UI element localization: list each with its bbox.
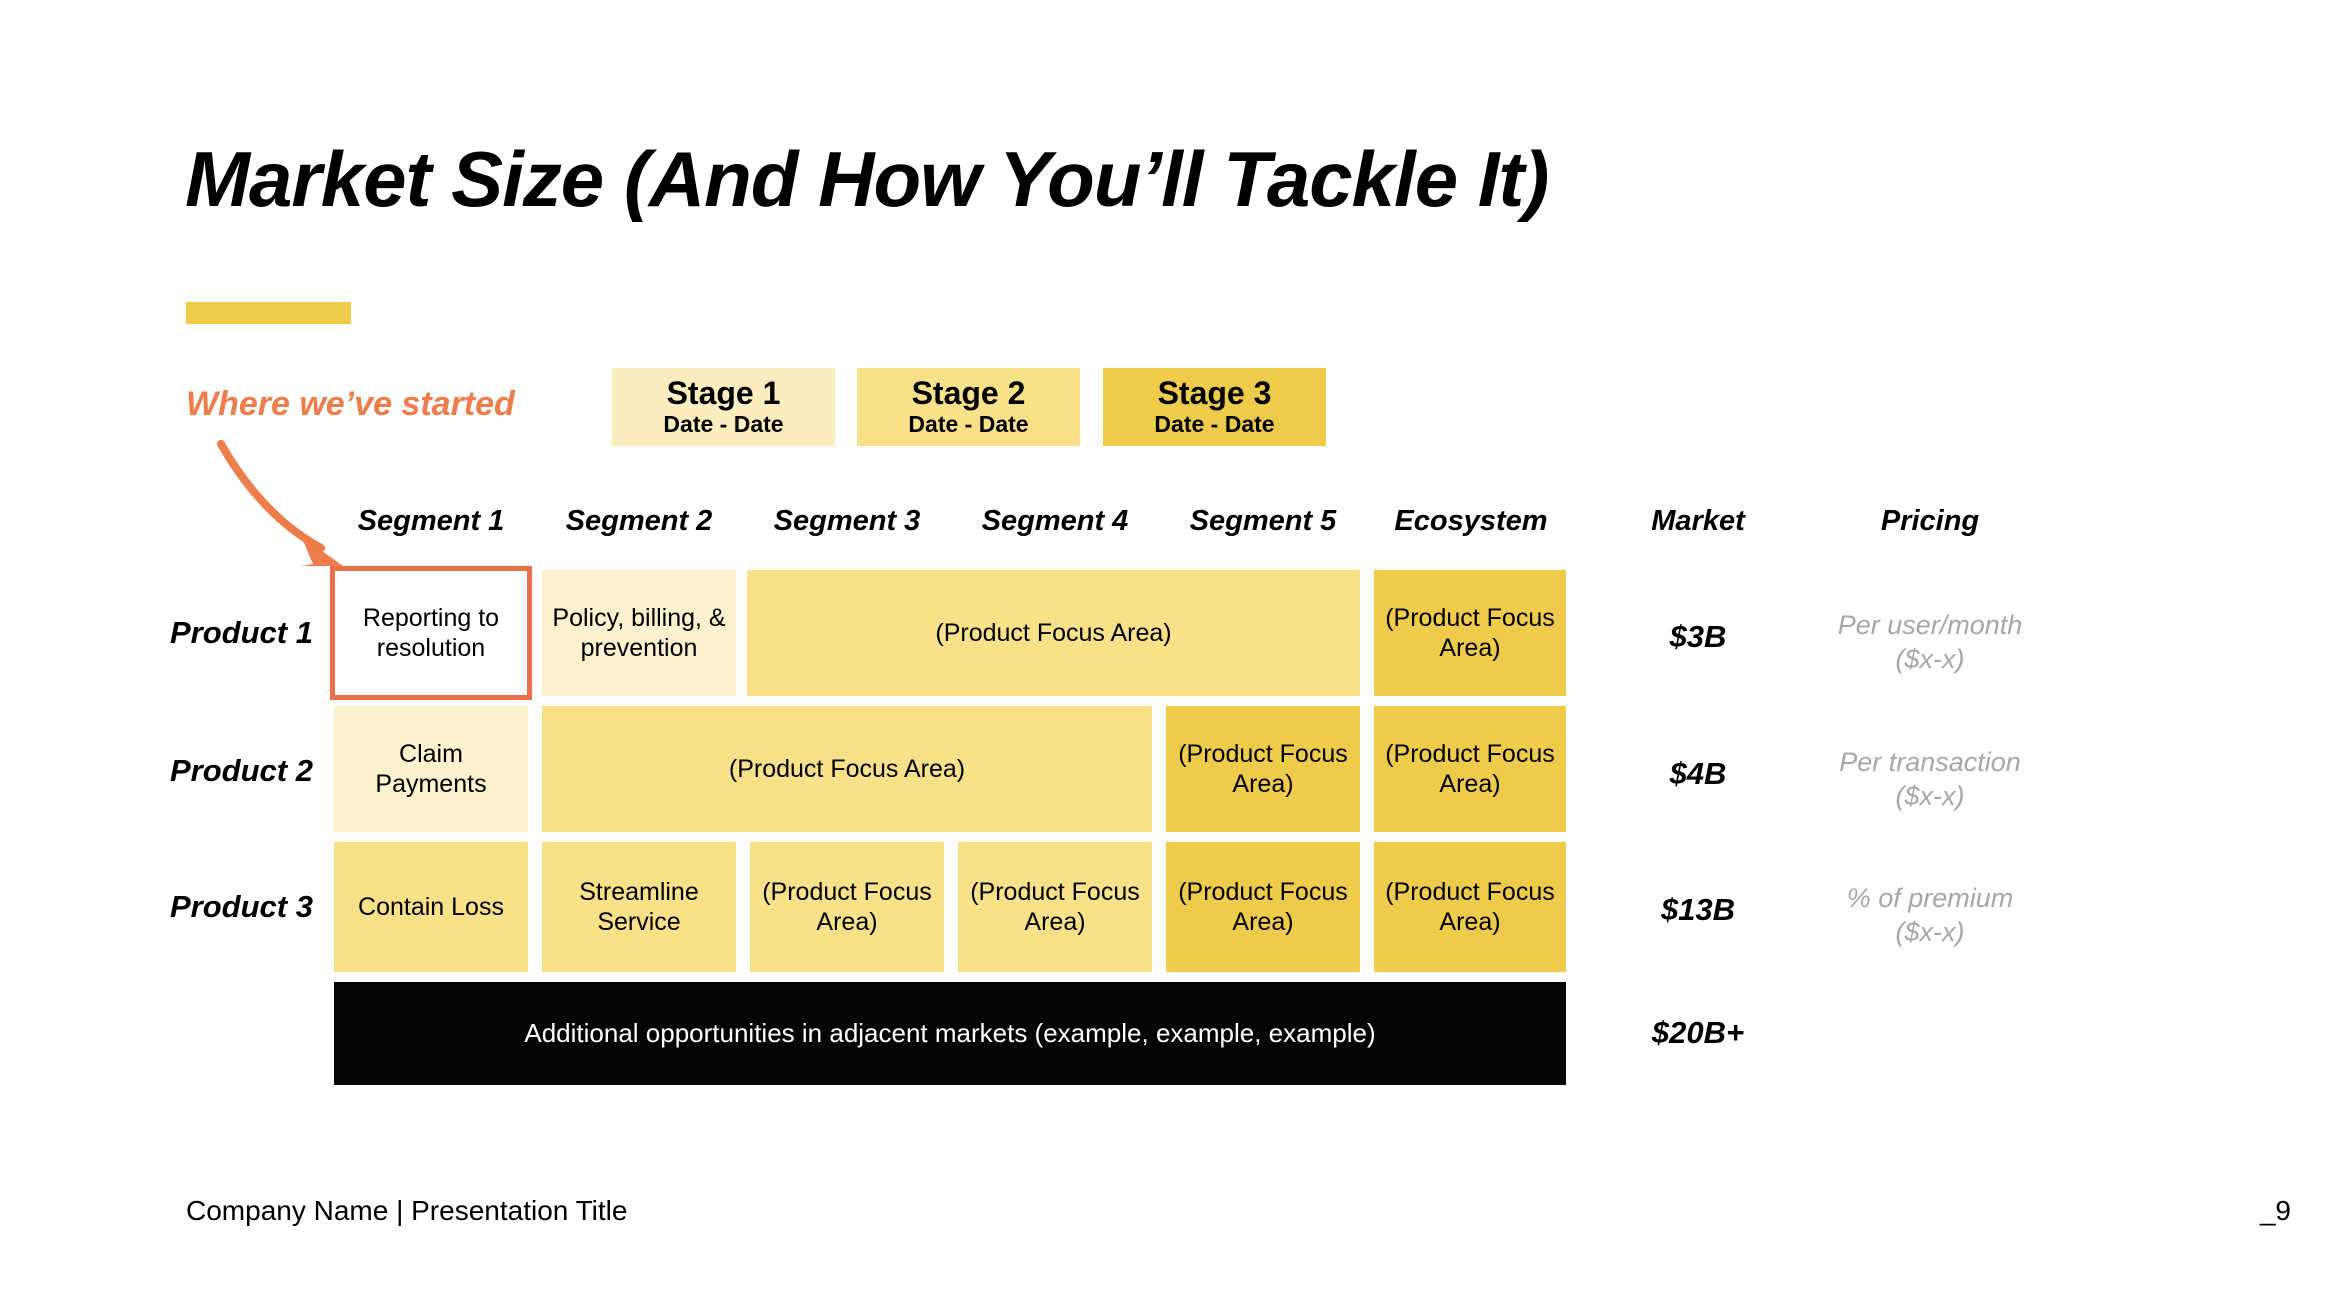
pricing-line-1: Per transaction [1800, 746, 2060, 780]
matrix-cell[interactable]: Streamline Service [542, 842, 736, 972]
column-header-segment-5: Segment 5 [1166, 505, 1360, 538]
matrix-cell[interactable]: (Product Focus Area) [747, 570, 1360, 696]
matrix-cell[interactable]: (Product Focus Area) [1374, 842, 1566, 972]
stage-name: Stage 1 [667, 376, 781, 412]
matrix-cell[interactable]: (Product Focus Area) [1374, 570, 1566, 696]
row-label-product-3: Product 3 [170, 889, 313, 925]
market-value: $4B [1598, 756, 1798, 792]
adjacent-markets-value: $20B+ [1598, 1015, 1798, 1051]
stage-box-3[interactable]: Stage 3 Date - Date [1103, 368, 1326, 446]
pricing-value: Per user/month ($x-x) [1800, 609, 2060, 677]
page-number: _9 [2260, 1195, 2291, 1227]
column-header-segment-4: Segment 4 [958, 505, 1152, 538]
column-header-segment-3: Segment 3 [750, 505, 944, 538]
market-value: $3B [1598, 619, 1798, 655]
row-label-product-2: Product 2 [170, 753, 313, 789]
matrix-cell[interactable]: (Product Focus Area) [542, 706, 1152, 832]
stage-box-2[interactable]: Stage 2 Date - Date [857, 368, 1080, 446]
stage-box-1[interactable]: Stage 1 Date - Date [612, 368, 835, 446]
matrix-cell[interactable]: Contain Loss [334, 842, 528, 972]
matrix-cell[interactable]: (Product Focus Area) [1166, 706, 1360, 832]
pricing-line-2: ($x-x) [1800, 780, 2060, 814]
matrix-cell[interactable]: Policy, billing, & prevention [542, 570, 736, 696]
pricing-line-1: Per user/month [1800, 609, 2060, 643]
adjacent-markets-bar[interactable]: Additional opportunities in adjacent mar… [334, 982, 1566, 1085]
page-title: Market Size (And How You’ll Tackle It) [185, 140, 1548, 218]
matrix-cell[interactable]: (Product Focus Area) [750, 842, 944, 972]
column-header-market: Market [1598, 505, 1798, 538]
matrix-cell[interactable]: Reporting to resolution [330, 566, 532, 700]
matrix-cell[interactable]: (Product Focus Area) [958, 842, 1152, 972]
footer-text: Company Name | Presentation Title [186, 1195, 627, 1227]
stage-name: Stage 2 [912, 376, 1026, 412]
matrix-cell[interactable]: (Product Focus Area) [1166, 842, 1360, 972]
market-value: $13B [1598, 892, 1798, 928]
stage-dates: Date - Date [663, 412, 783, 438]
column-header-segment-1: Segment 1 [334, 505, 528, 538]
stage-dates: Date - Date [908, 412, 1028, 438]
title-accent-bar [186, 302, 351, 324]
matrix-cell[interactable]: (Product Focus Area) [1374, 706, 1566, 832]
matrix-cell[interactable]: Claim Payments [334, 706, 528, 832]
pricing-line-2: ($x-x) [1800, 916, 2060, 950]
stage-dates: Date - Date [1154, 412, 1274, 438]
column-header-pricing: Pricing [1800, 505, 2060, 538]
stage-name: Stage 3 [1158, 376, 1272, 412]
pricing-value: Per transaction ($x-x) [1800, 746, 2060, 814]
pricing-line-1: % of premium [1800, 882, 2060, 916]
column-header-segment-2: Segment 2 [542, 505, 736, 538]
callout-label: Where we’ve started [186, 385, 515, 424]
pricing-value: % of premium ($x-x) [1800, 882, 2060, 950]
row-label-product-1: Product 1 [170, 615, 313, 651]
pricing-line-2: ($x-x) [1800, 643, 2060, 677]
column-header-ecosystem: Ecosystem [1374, 505, 1568, 538]
